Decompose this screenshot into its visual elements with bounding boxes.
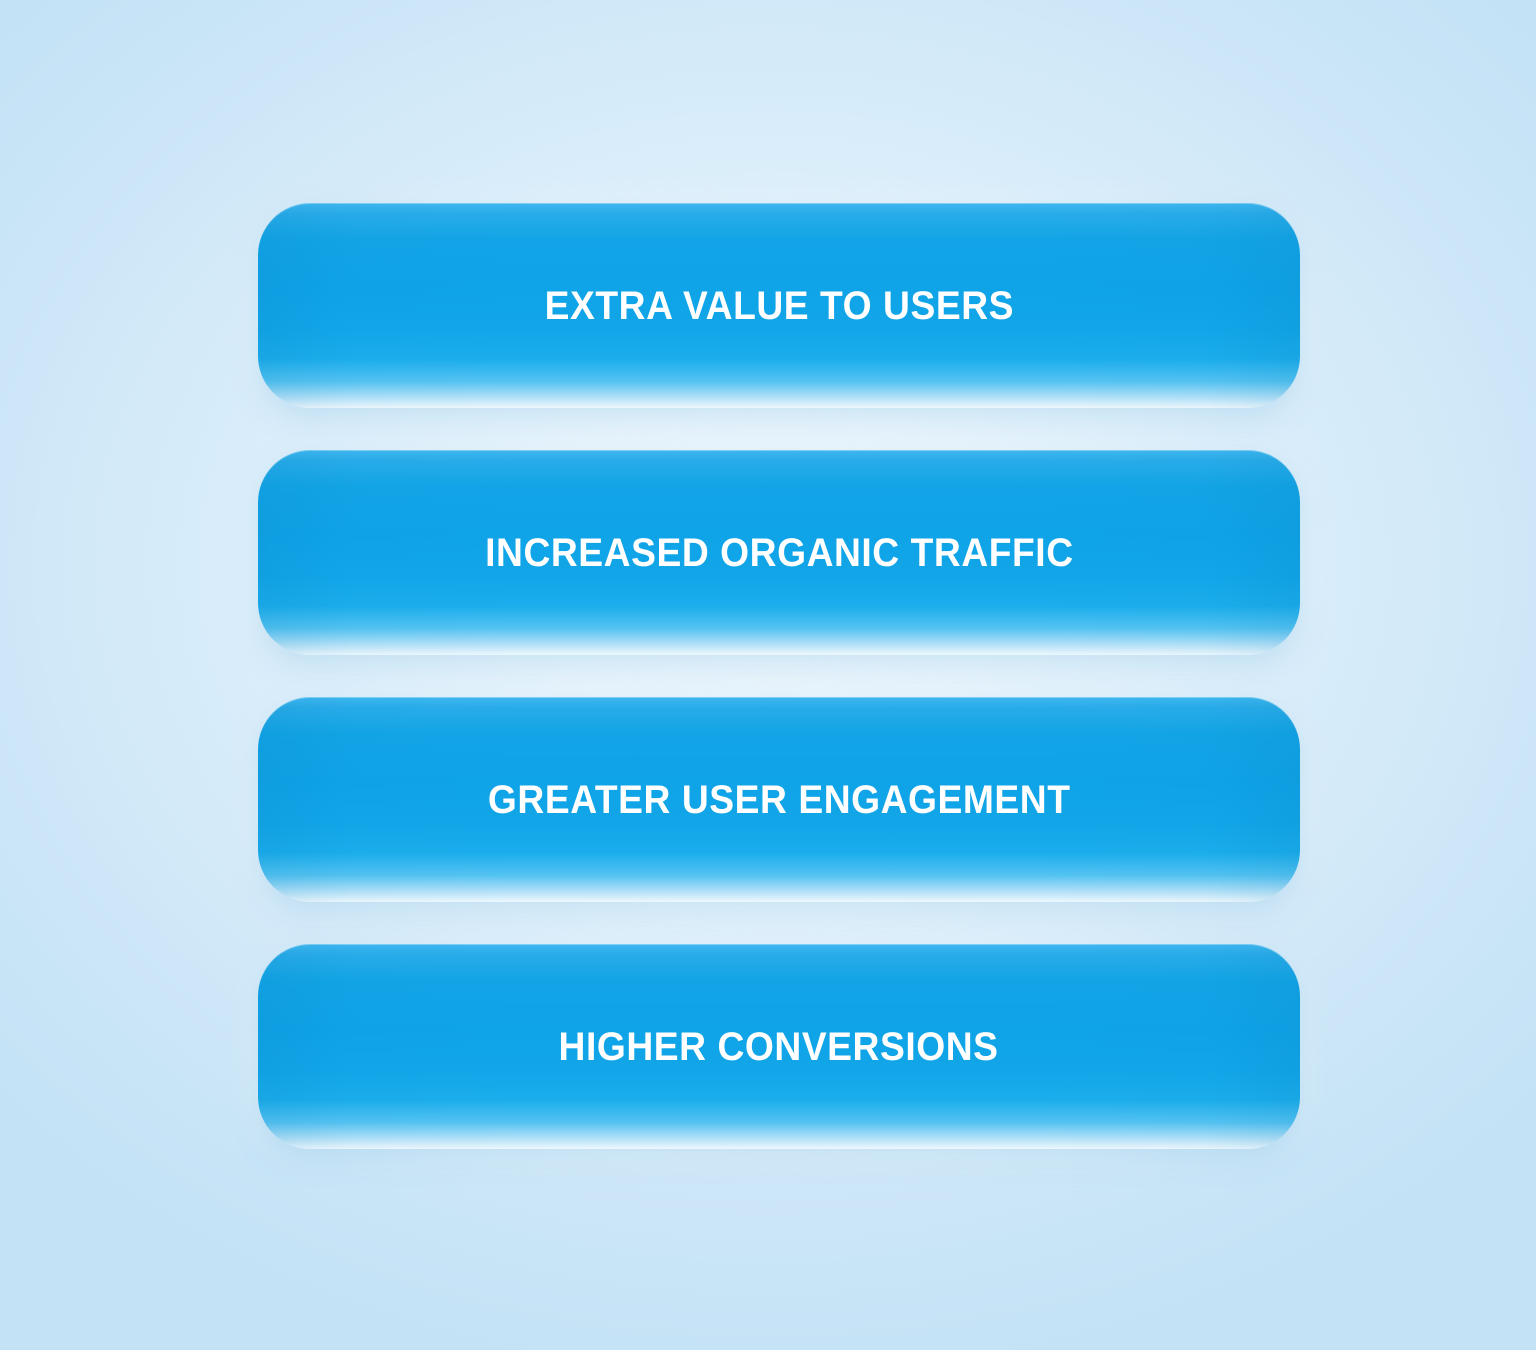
benefit-bar-extra-value-to-users[interactable]: EXTRA VALUE TO USERS xyxy=(258,203,1300,408)
benefit-bar-label: EXTRA VALUE TO USERS xyxy=(544,286,1013,326)
infographic-canvas: EXTRA VALUE TO USERS INCREASED ORGANIC T… xyxy=(0,0,1536,1350)
benefit-bar-greater-user-engagement[interactable]: GREATER USER ENGAGEMENT xyxy=(258,697,1300,902)
benefit-bar-stack: EXTRA VALUE TO USERS INCREASED ORGANIC T… xyxy=(258,203,1300,1149)
benefit-bar-label: GREATER USER ENGAGEMENT xyxy=(488,780,1071,820)
benefit-bar-label: INCREASED ORGANIC TRAFFIC xyxy=(485,533,1073,573)
benefit-bar-label: HIGHER CONVERSIONS xyxy=(559,1027,999,1067)
benefit-bar-increased-organic-traffic[interactable]: INCREASED ORGANIC TRAFFIC xyxy=(258,450,1300,655)
benefit-bar-higher-conversions[interactable]: HIGHER CONVERSIONS xyxy=(258,944,1300,1149)
